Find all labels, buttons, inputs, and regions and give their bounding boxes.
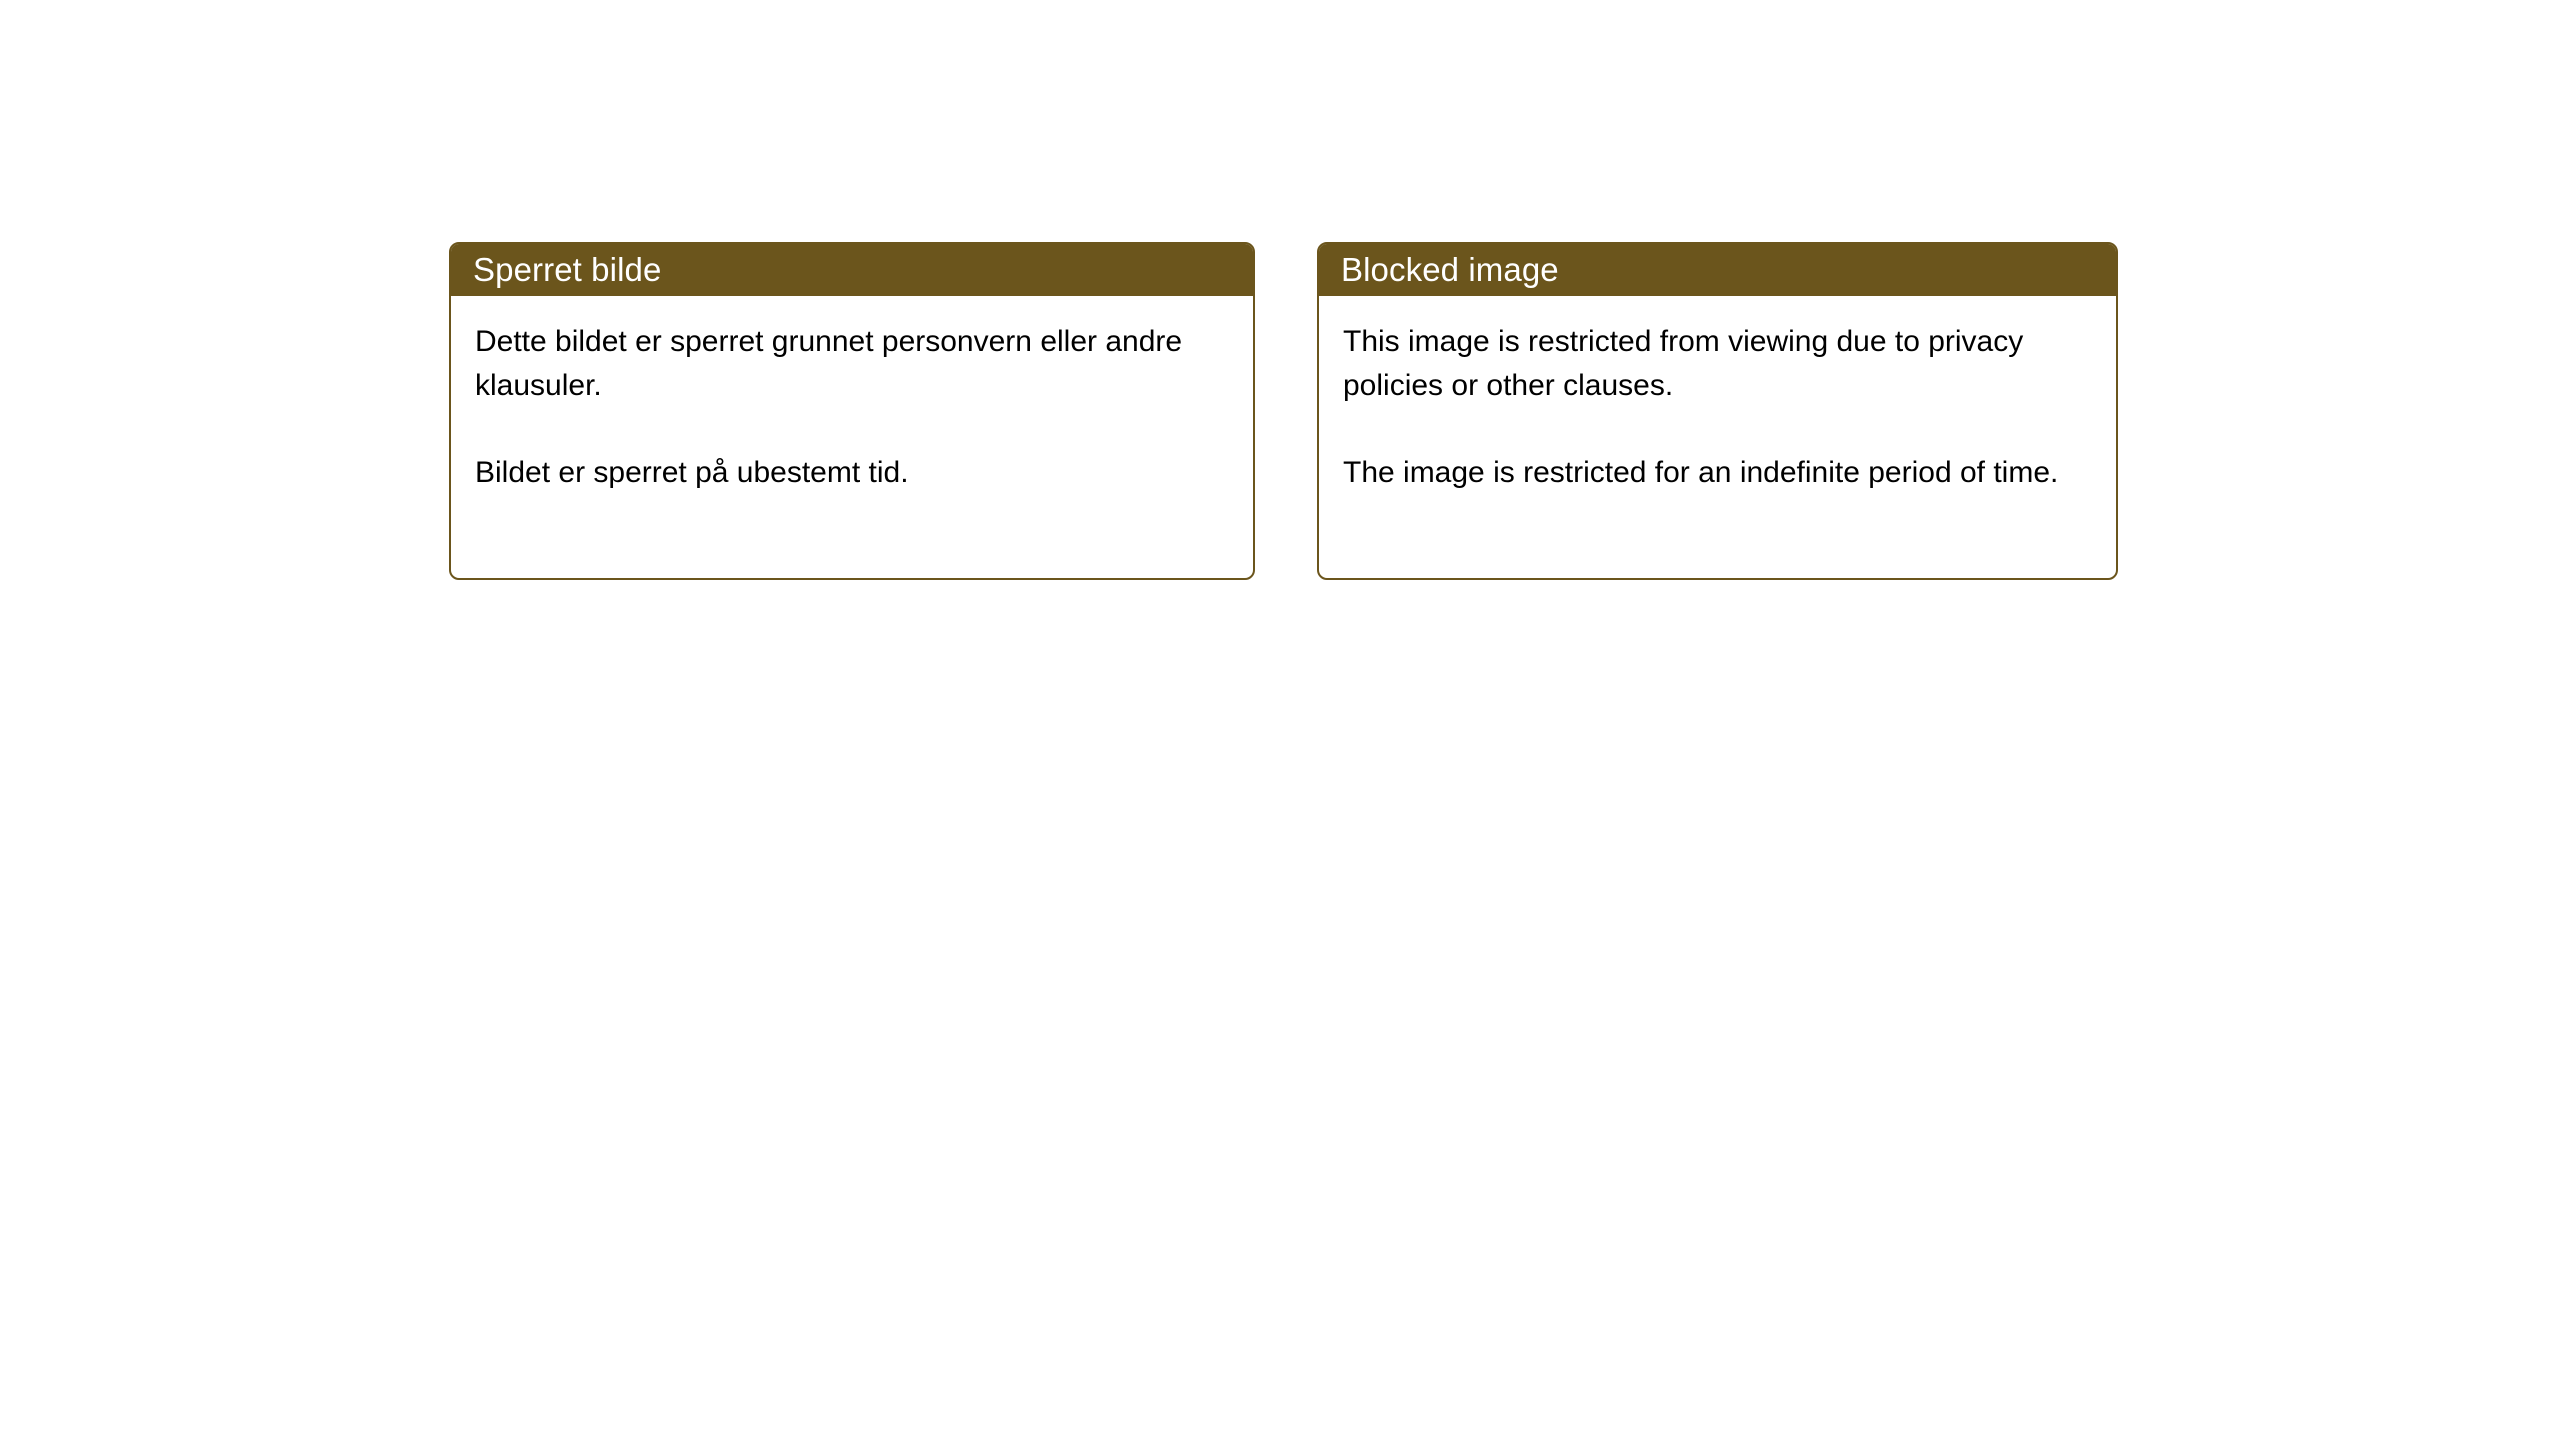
- notice-header-english: Blocked image: [1317, 242, 2118, 296]
- notice-paragraph-reason-english: This image is restricted from viewing du…: [1343, 320, 2090, 408]
- blocked-image-notice-norwegian: Sperret bilde Dette bildet er sperret gr…: [449, 242, 1255, 580]
- notice-header-norwegian: Sperret bilde: [449, 242, 1255, 296]
- notice-title-english: Blocked image: [1341, 253, 1559, 286]
- blocked-image-notice-english: Blocked image This image is restricted f…: [1317, 242, 2118, 580]
- notice-body-english: This image is restricted from viewing du…: [1319, 296, 2116, 495]
- notice-paragraph-reason-norwegian: Dette bildet er sperret grunnet personve…: [475, 320, 1227, 408]
- notice-body-norwegian: Dette bildet er sperret grunnet personve…: [451, 296, 1253, 495]
- notice-paragraph-duration-norwegian: Bildet er sperret på ubestemt tid.: [475, 451, 1227, 495]
- notice-paragraph-duration-english: The image is restricted for an indefinit…: [1343, 451, 2090, 495]
- notice-title-norwegian: Sperret bilde: [473, 253, 661, 286]
- page-root: Sperret bilde Dette bildet er sperret gr…: [0, 0, 2560, 1440]
